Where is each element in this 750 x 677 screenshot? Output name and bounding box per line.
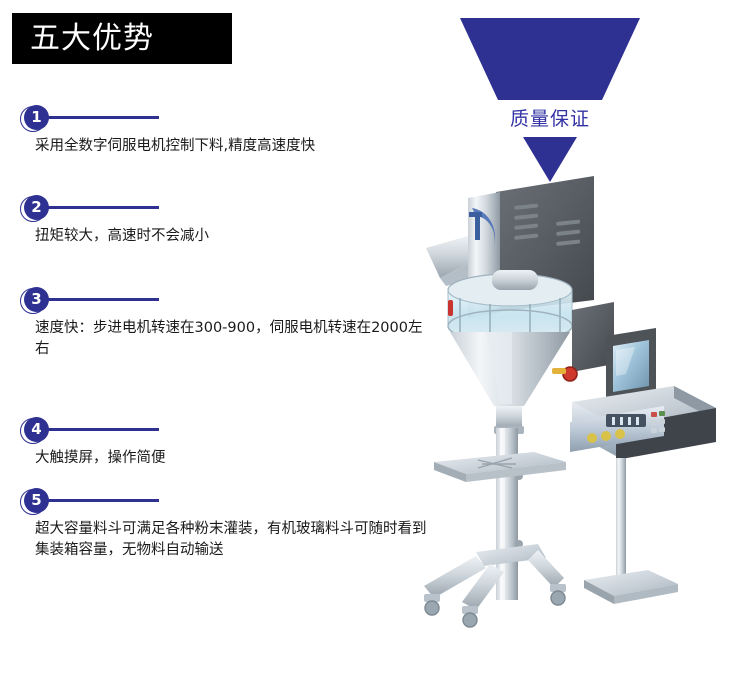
divider-line <box>44 116 159 119</box>
dosing-cone-assembly <box>450 332 570 434</box>
advantage-header: 5 <box>0 488 440 522</box>
scale-stand-pole <box>616 458 626 576</box>
number-badge-icon: 5 <box>20 488 50 518</box>
list-item: 1 采用全数字伺服电机控制下料,精度高速度快 <box>0 105 440 139</box>
discharge-nozzle <box>496 406 522 428</box>
number-badge-icon: 4 <box>20 417 50 447</box>
list-item: 4 大触摸屏，操作简便 <box>0 417 440 451</box>
page-title-banner: 五大优势 <box>12 13 232 64</box>
status-lamp-amber <box>552 368 566 374</box>
advantage-header: 2 <box>0 195 440 229</box>
advantage-header: 4 <box>0 417 440 451</box>
funnel-top-shape-icon <box>450 18 650 100</box>
divider-line <box>44 499 159 502</box>
advantage-text: 超大容量料斗可满足各种粉末灌装，有机玻璃料斗可随时看到集装箱容量，无物料自动输送 <box>35 519 430 561</box>
weighing-scale-assembly <box>570 386 716 604</box>
list-item: 5 超大容量料斗可满足各种粉末灌装，有机玻璃料斗可随时看到集装箱容量，无物料自动… <box>0 488 440 522</box>
work-platform <box>434 452 566 482</box>
advantage-header: 1 <box>0 105 440 139</box>
advantage-text: 速度快：步进电机转速在300-900，伺服电机转速在2000左右 <box>35 318 430 360</box>
number-badge-icon: 2 <box>20 195 50 225</box>
advantage-header: 3 <box>0 287 440 321</box>
list-item: 3 速度快：步进电机转速在300-900，伺服电机转速在2000左右 <box>0 287 440 321</box>
divider-line <box>44 206 159 209</box>
advantage-text: 大触摸屏，操作简便 <box>35 448 430 469</box>
divider-line <box>44 298 159 301</box>
hopper-motor-cap <box>492 270 538 290</box>
acrylic-hopper-assembly <box>448 270 572 342</box>
number-badge-icon: 1 <box>20 105 50 135</box>
base-frame-assembly <box>424 544 566 627</box>
quality-label: 质量保证 <box>450 104 650 131</box>
page-title: 五大优势 <box>30 24 154 54</box>
advantage-text: 采用全数字伺服电机控制下料,精度高速度快 <box>35 136 430 157</box>
number-badge-icon: 3 <box>20 287 50 317</box>
list-item: 2 扭矩较大，高速时不会减小 <box>0 195 440 229</box>
advantage-text: 扭矩较大，高速时不会减小 <box>35 226 430 247</box>
quality-funnel-graphic: 质量保证 <box>450 10 650 180</box>
machine-photo <box>420 160 750 630</box>
base-leg-right <box>528 550 564 588</box>
indicator-light-red <box>448 300 453 316</box>
divider-line <box>44 428 159 431</box>
